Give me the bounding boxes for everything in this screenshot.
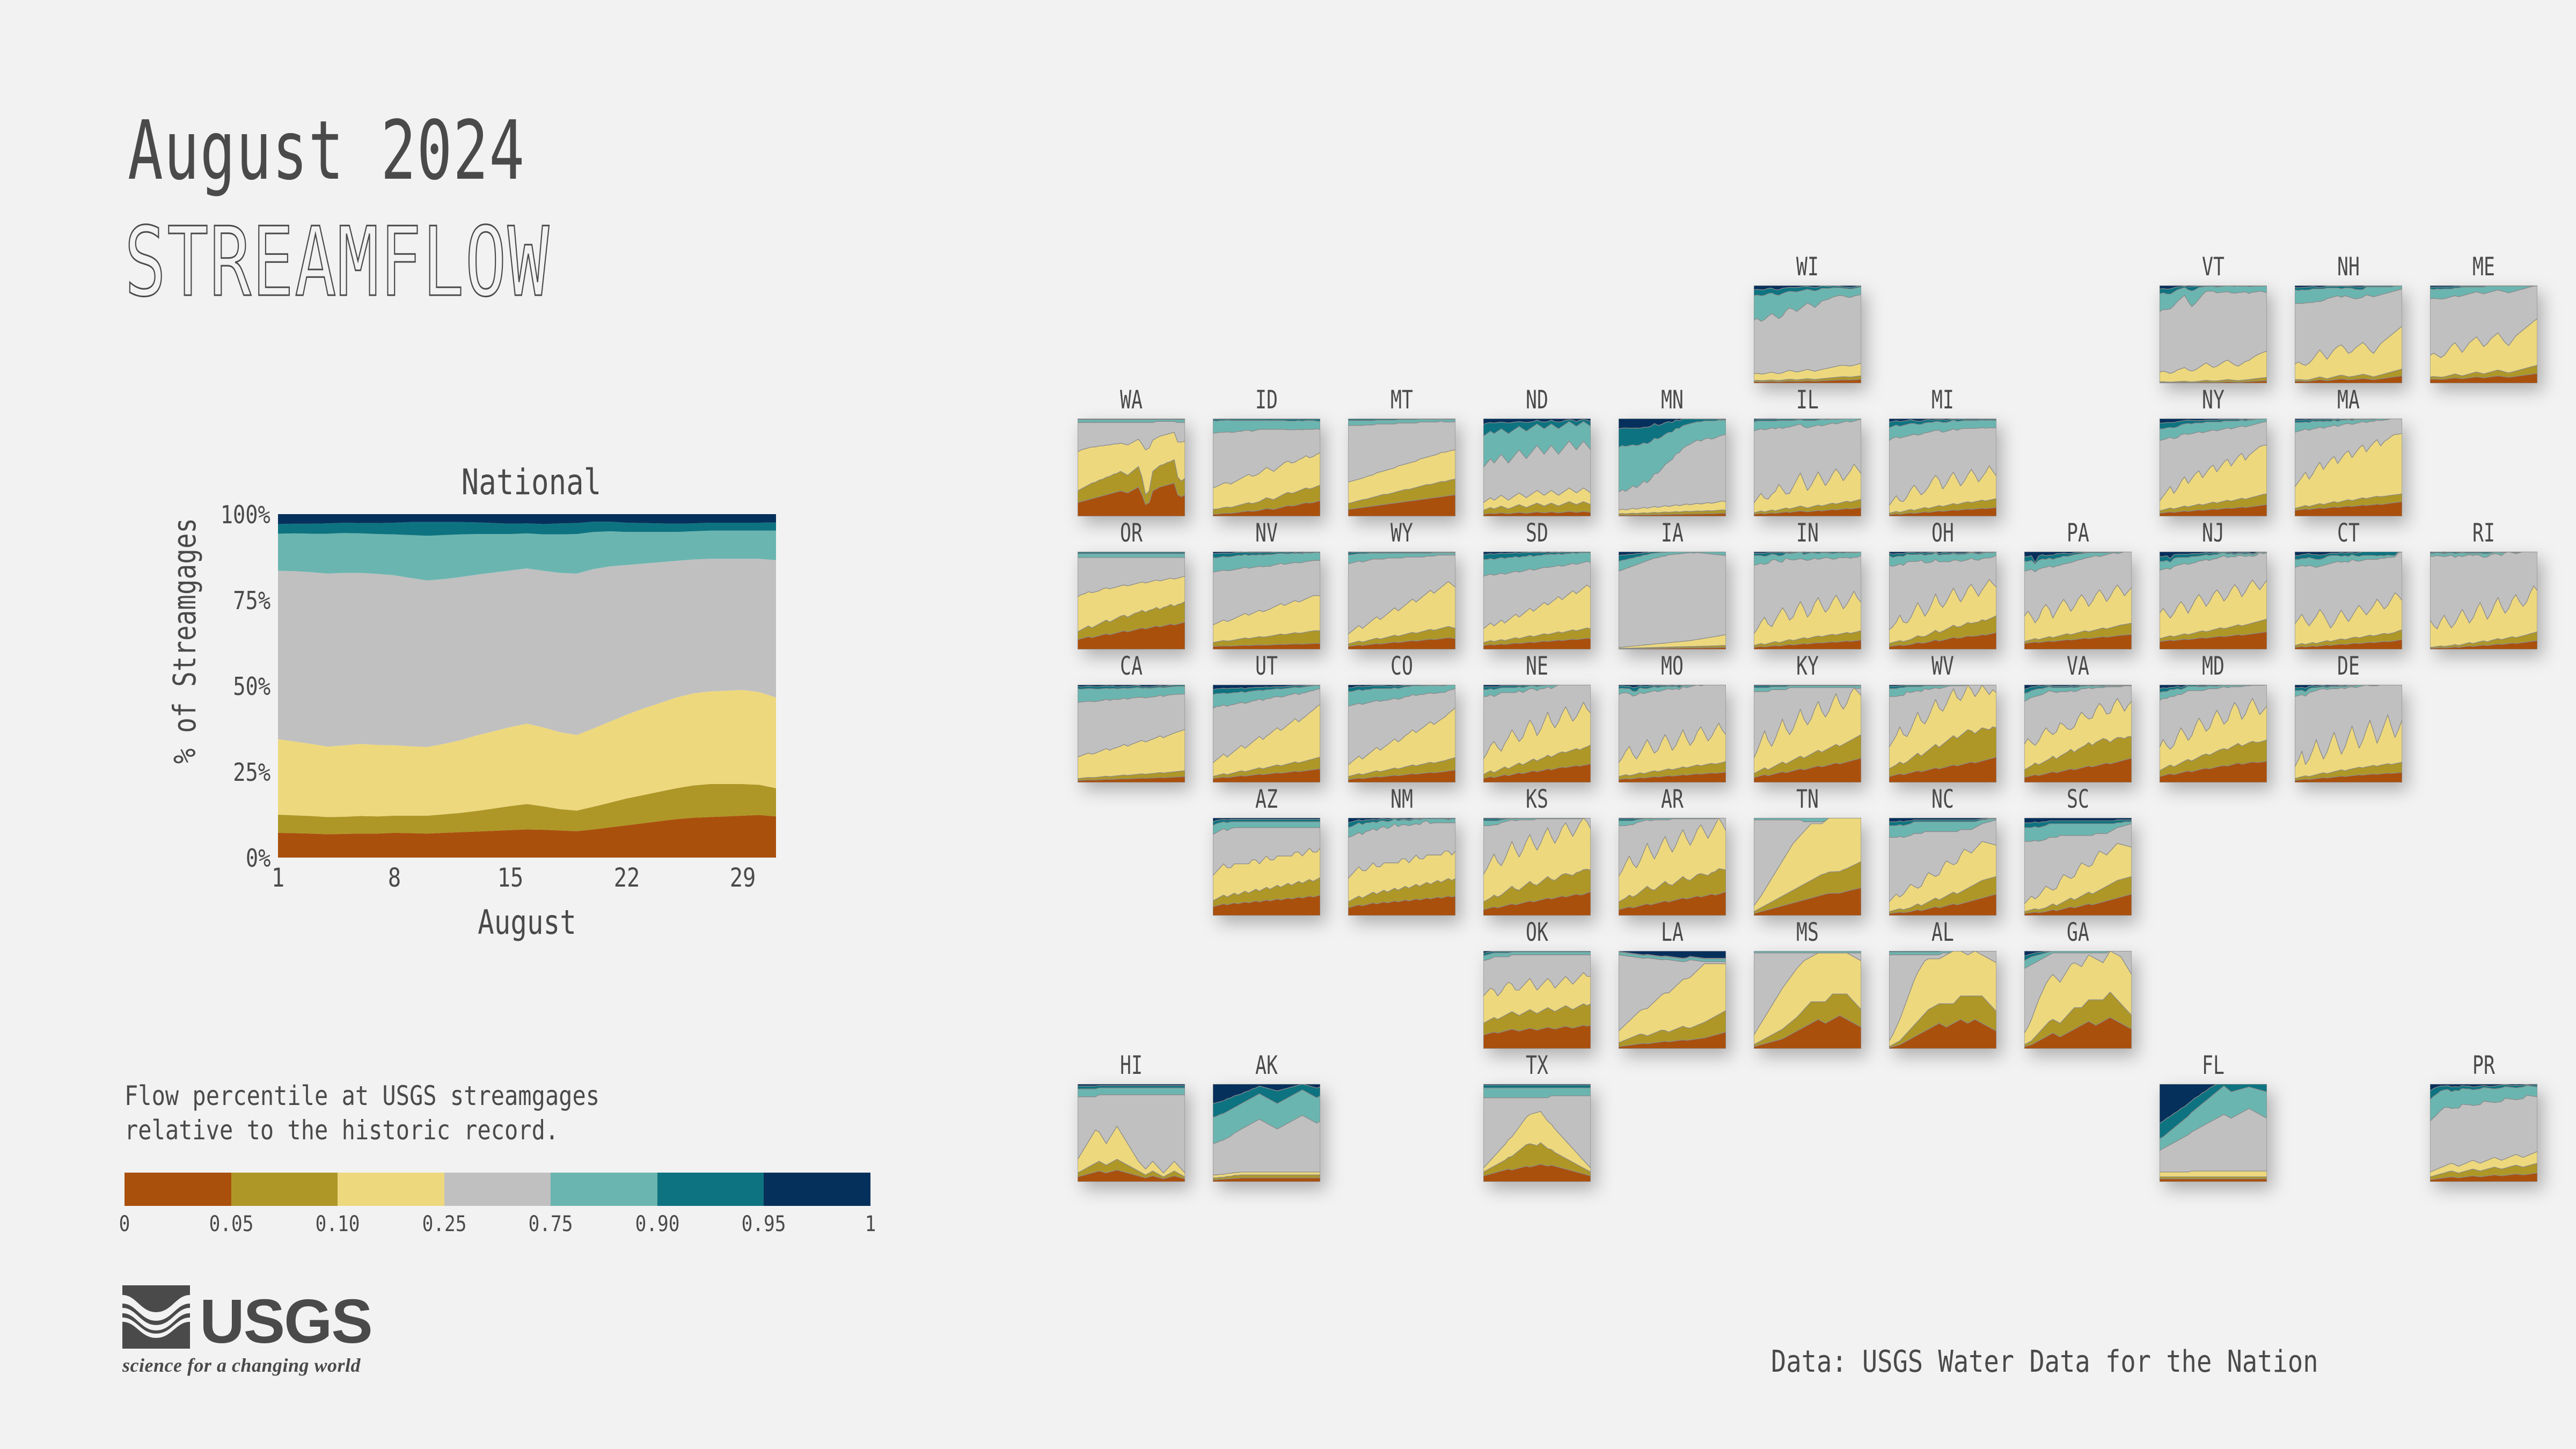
state-label-TN: TN bbox=[1768, 785, 1847, 814]
state-area-svg-RI bbox=[2430, 552, 2537, 649]
state-cell-CO[interactable]: CO bbox=[1348, 652, 1455, 787]
state-plot-NC bbox=[1889, 818, 1996, 916]
state-cell-IL[interactable]: IL bbox=[1754, 385, 1861, 521]
state-cell-TN[interactable]: TN bbox=[1754, 785, 1861, 920]
state-label-NC: NC bbox=[1903, 785, 1982, 814]
state-plot-OR bbox=[1078, 552, 1185, 649]
state-cell-DE[interactable]: DE bbox=[2295, 652, 2402, 787]
state-label-AK: AK bbox=[1227, 1051, 1306, 1080]
state-plot-WI bbox=[1754, 286, 1861, 383]
state-cell-LA[interactable]: LA bbox=[1619, 918, 1726, 1053]
state-plot-ND bbox=[1483, 419, 1591, 516]
state-plot-CO bbox=[1348, 685, 1455, 782]
state-label-KY: KY bbox=[1768, 652, 1847, 681]
state-cell-TX[interactable]: TX bbox=[1483, 1051, 1591, 1186]
state-label-NE: NE bbox=[1497, 652, 1577, 681]
state-area-svg-DE bbox=[2295, 685, 2402, 782]
state-cell-KY[interactable]: KY bbox=[1754, 652, 1861, 787]
state-area-svg-OR bbox=[1078, 552, 1185, 649]
state-cell-MS[interactable]: MS bbox=[1754, 918, 1861, 1053]
state-label-WI: WI bbox=[1768, 252, 1847, 282]
state-label-HI: HI bbox=[1092, 1051, 1171, 1080]
state-plot-MD bbox=[2160, 685, 2267, 782]
state-plot-MT bbox=[1348, 419, 1455, 516]
state-plot-AL bbox=[1889, 951, 1996, 1049]
state-cell-OR[interactable]: OR bbox=[1078, 518, 1185, 654]
state-label-NJ: NJ bbox=[2173, 518, 2253, 548]
state-area-svg-AK bbox=[1213, 1084, 1320, 1182]
state-label-PR: PR bbox=[2444, 1051, 2523, 1080]
state-cell-NE[interactable]: NE bbox=[1483, 652, 1591, 787]
state-label-SD: SD bbox=[1497, 518, 1577, 548]
state-cell-OK[interactable]: OK bbox=[1483, 918, 1591, 1053]
state-area-svg-AL bbox=[1889, 951, 1996, 1049]
state-cell-WV[interactable]: WV bbox=[1889, 652, 1996, 787]
state-label-VT: VT bbox=[2173, 252, 2253, 282]
state-plot-ID bbox=[1213, 419, 1320, 516]
state-label-VA: VA bbox=[2038, 652, 2118, 681]
state-plot-MS bbox=[1754, 951, 1861, 1049]
state-area-svg-ID bbox=[1213, 419, 1320, 516]
state-plot-RI bbox=[2430, 552, 2537, 649]
state-area-svg-MA bbox=[2295, 419, 2402, 516]
state-plot-NJ bbox=[2160, 552, 2267, 649]
state-cell-MT[interactable]: MT bbox=[1348, 385, 1455, 521]
state-cell-NM[interactable]: NM bbox=[1348, 785, 1455, 920]
state-plot-ME bbox=[2430, 286, 2537, 383]
state-label-CO: CO bbox=[1362, 652, 1441, 681]
state-cell-WA[interactable]: WA bbox=[1078, 385, 1185, 521]
state-cell-AL[interactable]: AL bbox=[1889, 918, 1996, 1053]
state-cell-NC[interactable]: NC bbox=[1889, 785, 1996, 920]
state-area-svg-NJ bbox=[2160, 552, 2267, 649]
state-label-RI: RI bbox=[2444, 518, 2523, 548]
state-cell-FL[interactable]: FL bbox=[2160, 1051, 2267, 1186]
state-plot-TX bbox=[1483, 1084, 1591, 1182]
state-plot-SC bbox=[2024, 818, 2132, 916]
state-area-svg-VA bbox=[2024, 685, 2132, 782]
poster-canvas: August 2024 STREAMFLOW National % of Str… bbox=[0, 0, 2576, 1449]
state-cell-SC[interactable]: SC bbox=[2024, 785, 2132, 920]
state-area-svg-ME bbox=[2430, 286, 2537, 383]
state-area-svg-TX bbox=[1483, 1084, 1591, 1182]
state-cell-PA[interactable]: PA bbox=[2024, 518, 2132, 654]
state-area-svg-NY bbox=[2160, 419, 2267, 516]
state-area-svg-OK bbox=[1483, 951, 1591, 1049]
state-plot-AK bbox=[1213, 1084, 1320, 1182]
state-label-CT: CT bbox=[2309, 518, 2388, 548]
state-plot-NM bbox=[1348, 818, 1455, 916]
state-plot-MI bbox=[1889, 419, 1996, 516]
state-label-OK: OK bbox=[1497, 918, 1577, 947]
state-cell-CA[interactable]: CA bbox=[1078, 652, 1185, 787]
state-cell-MI[interactable]: MI bbox=[1889, 385, 1996, 521]
state-plot-KY bbox=[1754, 685, 1861, 782]
state-label-IN: IN bbox=[1768, 518, 1847, 548]
state-cell-KS[interactable]: KS bbox=[1483, 785, 1591, 920]
state-cell-MO[interactable]: MO bbox=[1619, 652, 1726, 787]
state-label-UT: UT bbox=[1227, 652, 1306, 681]
state-area-svg-NV bbox=[1213, 552, 1320, 649]
state-cell-MN[interactable]: MN bbox=[1619, 385, 1726, 521]
state-area-svg-SD bbox=[1483, 552, 1591, 649]
state-area-svg-MS bbox=[1754, 951, 1861, 1049]
state-cell-UT[interactable]: UT bbox=[1213, 652, 1320, 787]
state-area-svg-WY bbox=[1348, 552, 1455, 649]
state-cell-HI[interactable]: HI bbox=[1078, 1051, 1185, 1186]
state-cell-WI[interactable]: WI bbox=[1754, 252, 1861, 387]
state-area-svg-WA bbox=[1078, 419, 1185, 516]
state-plot-IA bbox=[1619, 552, 1726, 649]
state-plot-WV bbox=[1889, 685, 1996, 782]
state-plot-DE bbox=[2295, 685, 2402, 782]
state-area-svg-NM bbox=[1348, 818, 1455, 916]
state-area-svg-UT bbox=[1213, 685, 1320, 782]
state-cell-NH[interactable]: NH bbox=[2295, 252, 2402, 387]
state-cell-NJ[interactable]: NJ bbox=[2160, 518, 2267, 654]
state-cell-VA[interactable]: VA bbox=[2024, 652, 2132, 787]
state-area-svg-MN bbox=[1619, 419, 1726, 516]
state-area-svg-IA bbox=[1619, 552, 1726, 649]
state-area-svg-IL bbox=[1754, 419, 1861, 516]
state-cell-MD[interactable]: MD bbox=[2160, 652, 2267, 787]
state-label-PA: PA bbox=[2038, 518, 2118, 548]
state-plot-IL bbox=[1754, 419, 1861, 516]
state-area-svg-OH bbox=[1889, 552, 1996, 649]
state-label-ND: ND bbox=[1497, 385, 1577, 415]
state-plot-SD bbox=[1483, 552, 1591, 649]
state-plot-GA bbox=[2024, 951, 2132, 1049]
state-label-WY: WY bbox=[1362, 518, 1441, 548]
state-label-MT: MT bbox=[1362, 385, 1441, 415]
state-label-MS: MS bbox=[1768, 918, 1847, 947]
state-area-svg-KY bbox=[1754, 685, 1861, 782]
state-plot-HI bbox=[1078, 1084, 1185, 1182]
state-area-svg-LA bbox=[1619, 951, 1726, 1049]
state-area-svg-NE bbox=[1483, 685, 1591, 782]
state-cell-ME[interactable]: ME bbox=[2430, 252, 2537, 387]
state-area-svg-HI bbox=[1078, 1084, 1185, 1182]
state-area-svg-CT bbox=[2295, 552, 2402, 649]
state-label-CA: CA bbox=[1092, 652, 1171, 681]
state-area-svg-PA bbox=[2024, 552, 2132, 649]
state-area-svg-MI bbox=[1889, 419, 1996, 516]
state-label-NM: NM bbox=[1362, 785, 1441, 814]
state-area-svg-NH bbox=[2295, 286, 2402, 383]
state-area-svg-SC bbox=[2024, 818, 2132, 916]
state-label-ID: ID bbox=[1227, 385, 1306, 415]
state-plot-OK bbox=[1483, 951, 1591, 1049]
state-area-svg-ND bbox=[1483, 419, 1591, 516]
state-plot-LA bbox=[1619, 951, 1726, 1049]
state-label-NH: NH bbox=[2309, 252, 2388, 282]
state-plot-PA bbox=[2024, 552, 2132, 649]
state-label-MD: MD bbox=[2173, 652, 2253, 681]
state-cell-PR[interactable]: PR bbox=[2430, 1051, 2537, 1186]
state-label-WV: WV bbox=[1903, 652, 1982, 681]
state-label-DE: DE bbox=[2309, 652, 2388, 681]
state-label-AR: AR bbox=[1633, 785, 1712, 814]
state-cell-SD[interactable]: SD bbox=[1483, 518, 1591, 654]
state-plot-NV bbox=[1213, 552, 1320, 649]
state-label-GA: GA bbox=[2038, 918, 2118, 947]
state-area-svg-GA bbox=[2024, 951, 2132, 1049]
state-plot-NE bbox=[1483, 685, 1591, 782]
state-area-svg-NC bbox=[1889, 818, 1996, 916]
state-area-svg-MD bbox=[2160, 685, 2267, 782]
state-area-svg-VT bbox=[2160, 286, 2267, 383]
state-plot-OH bbox=[1889, 552, 1996, 649]
state-area-svg-CA bbox=[1078, 685, 1185, 782]
state-plot-CA bbox=[1078, 685, 1185, 782]
state-label-MI: MI bbox=[1903, 385, 1982, 415]
state-label-AL: AL bbox=[1903, 918, 1982, 947]
state-cell-IN[interactable]: IN bbox=[1754, 518, 1861, 654]
state-area-svg-KS bbox=[1483, 818, 1591, 916]
state-cell-ND[interactable]: ND bbox=[1483, 385, 1591, 521]
state-cell-AZ[interactable]: AZ bbox=[1213, 785, 1320, 920]
state-label-IL: IL bbox=[1768, 385, 1847, 415]
state-cell-WY[interactable]: WY bbox=[1348, 518, 1455, 654]
state-label-NV: NV bbox=[1227, 518, 1306, 548]
state-plot-NH bbox=[2295, 286, 2402, 383]
state-label-FL: FL bbox=[2173, 1051, 2253, 1080]
state-plot-AR bbox=[1619, 818, 1726, 916]
state-label-MN: MN bbox=[1633, 385, 1712, 415]
state-label-AZ: AZ bbox=[1227, 785, 1306, 814]
state-label-WA: WA bbox=[1092, 385, 1171, 415]
state-plot-CT bbox=[2295, 552, 2402, 649]
state-cell-CT[interactable]: CT bbox=[2295, 518, 2402, 654]
state-cell-ID[interactable]: ID bbox=[1213, 385, 1320, 521]
state-grid: WIVTNHMEWAIDMTNDMNILMINYMAORNVWYSDIAINOH… bbox=[0, 0, 2576, 1449]
state-area-svg-CO bbox=[1348, 685, 1455, 782]
state-cell-VT[interactable]: VT bbox=[2160, 252, 2267, 387]
state-plot-KS bbox=[1483, 818, 1591, 916]
state-plot-MA bbox=[2295, 419, 2402, 516]
state-label-MO: MO bbox=[1633, 652, 1712, 681]
state-label-SC: SC bbox=[2038, 785, 2118, 814]
state-label-LA: LA bbox=[1633, 918, 1712, 947]
state-label-ME: ME bbox=[2444, 252, 2523, 282]
state-plot-FL bbox=[2160, 1084, 2267, 1182]
state-area-svg-WV bbox=[1889, 685, 1996, 782]
state-label-TX: TX bbox=[1497, 1051, 1577, 1080]
state-area-svg-AZ bbox=[1213, 818, 1320, 916]
state-area-svg-AR bbox=[1619, 818, 1726, 916]
state-label-NY: NY bbox=[2173, 385, 2253, 415]
state-plot-MO bbox=[1619, 685, 1726, 782]
state-label-OH: OH bbox=[1903, 518, 1982, 548]
state-plot-TN bbox=[1754, 818, 1861, 916]
state-plot-AZ bbox=[1213, 818, 1320, 916]
state-plot-IN bbox=[1754, 552, 1861, 649]
state-plot-MN bbox=[1619, 419, 1726, 516]
state-plot-NY bbox=[2160, 419, 2267, 516]
state-cell-OH[interactable]: OH bbox=[1889, 518, 1996, 654]
state-plot-WY bbox=[1348, 552, 1455, 649]
state-label-IA: IA bbox=[1633, 518, 1712, 548]
state-cell-AK[interactable]: AK bbox=[1213, 1051, 1320, 1186]
state-plot-UT bbox=[1213, 685, 1320, 782]
state-area-svg-TN bbox=[1754, 818, 1861, 916]
state-plot-VT bbox=[2160, 286, 2267, 383]
state-cell-NY[interactable]: NY bbox=[2160, 385, 2267, 521]
state-cell-GA[interactable]: GA bbox=[2024, 918, 2132, 1053]
state-area-svg-MO bbox=[1619, 685, 1726, 782]
state-label-MA: MA bbox=[2309, 385, 2388, 415]
state-area-svg-PR bbox=[2430, 1084, 2537, 1182]
state-cell-IA[interactable]: IA bbox=[1619, 518, 1726, 654]
state-area-svg-MT bbox=[1348, 419, 1455, 516]
state-plot-WA bbox=[1078, 419, 1185, 516]
state-area-svg-WI bbox=[1754, 286, 1861, 383]
state-area-svg-IN bbox=[1754, 552, 1861, 649]
state-label-OR: OR bbox=[1092, 518, 1171, 548]
state-plot-VA bbox=[2024, 685, 2132, 782]
state-label-KS: KS bbox=[1497, 785, 1577, 814]
state-cell-NV[interactable]: NV bbox=[1213, 518, 1320, 654]
state-area-svg-FL bbox=[2160, 1084, 2267, 1182]
state-cell-AR[interactable]: AR bbox=[1619, 785, 1726, 920]
state-cell-RI[interactable]: RI bbox=[2430, 518, 2537, 654]
state-cell-MA[interactable]: MA bbox=[2295, 385, 2402, 521]
state-plot-PR bbox=[2430, 1084, 2537, 1182]
